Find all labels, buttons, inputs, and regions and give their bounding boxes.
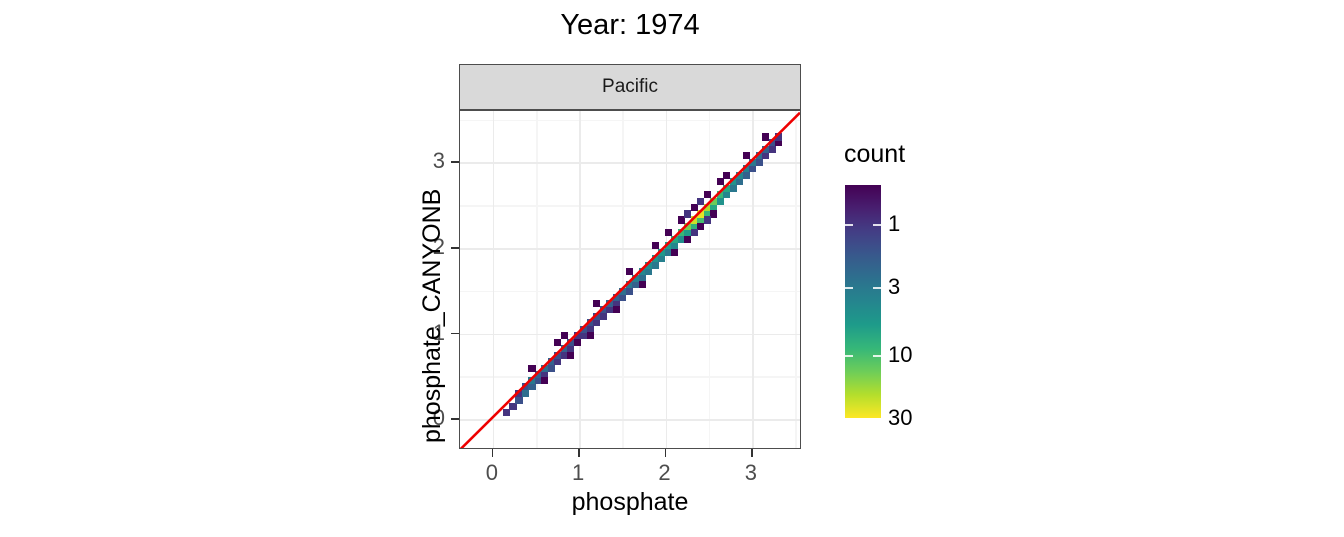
legend-tick-mark [873,355,881,357]
legend-tick-label: 30 [888,406,912,430]
y-tick-mark [451,418,459,420]
x-tick-mark [492,449,494,457]
x-axis-title: phosphate [459,488,801,517]
y-tick-mark [451,247,459,249]
legend-tick-label: 1 [888,212,900,236]
abline-segment [460,113,800,449]
reference-line [460,111,800,448]
x-tick-mark [578,449,580,457]
chart-root: Year: 1974 Pacific 0123 0123 phosphate p… [0,0,1344,537]
facet-strip-label: Pacific [460,65,800,109]
legend-tick-mark [845,287,853,289]
legend-tick-label: 10 [888,343,912,367]
y-tick-mark [451,161,459,163]
y-tick-mark [451,333,459,335]
x-tick-mark [751,449,753,457]
legend-tick-mark [873,287,881,289]
page-title: Year: 1974 [459,8,801,42]
x-tick-label: 3 [721,460,781,486]
legend-tick-mark [873,418,881,420]
legend-tick-mark [873,224,881,226]
legend-title: count [844,140,905,169]
y-tick-label: 3 [381,146,445,176]
x-tick-label: 0 [462,460,522,486]
y-axis-title: phosphate_CANYONB [418,189,447,443]
legend-tick-mark [845,355,853,357]
x-tick-label: 1 [548,460,608,486]
plot-panel-inner [460,111,800,448]
legend-tick-mark [845,224,853,226]
plot-panel [459,110,801,449]
x-tick-label: 2 [635,460,695,486]
x-tick-mark [665,449,667,457]
legend-tick-label: 3 [888,275,900,299]
legend-tick-mark [845,418,853,420]
legend-colorbar [845,185,881,418]
facet-strip: Pacific [459,64,801,110]
